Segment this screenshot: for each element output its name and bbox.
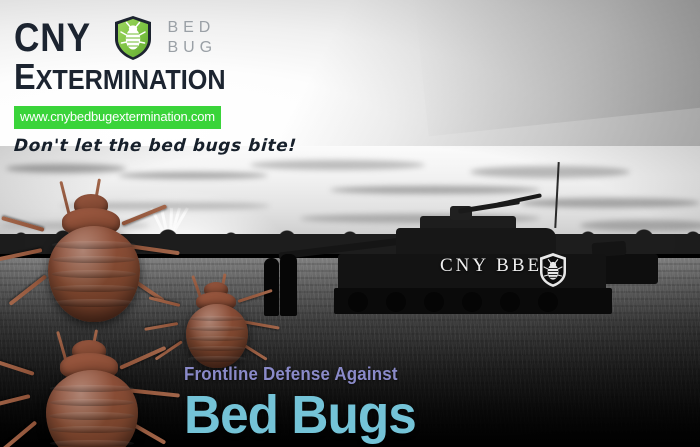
abdomen-segment bbox=[50, 440, 135, 447]
bed-bug-icon bbox=[26, 342, 166, 447]
website-url-text: www.cnybedbugextermination.com bbox=[20, 109, 215, 124]
headline-title: Bed Bugs bbox=[184, 387, 416, 443]
abdomen-segment bbox=[50, 412, 135, 419]
brand-tagline: Don't let the bed bugs bite! bbox=[13, 136, 297, 156]
tank-road-wheel bbox=[500, 292, 520, 312]
bed-bug-abdomen bbox=[48, 226, 140, 322]
bed-bug-abdomen bbox=[46, 370, 138, 447]
abdomen-segment bbox=[50, 399, 135, 406]
tank-road-wheel bbox=[386, 292, 406, 312]
cloud bbox=[118, 172, 268, 179]
logo-subtext-bug: BUG bbox=[167, 38, 217, 58]
tank-road-wheel bbox=[424, 292, 444, 312]
abdomen-segment bbox=[188, 346, 245, 351]
cloud bbox=[250, 160, 425, 170]
shield-bedbug-icon bbox=[113, 15, 153, 61]
bed-bug-icon bbox=[176, 282, 272, 370]
abdomen-segment bbox=[50, 426, 135, 433]
logo-subtext: BED BUG bbox=[167, 18, 217, 58]
abdomen-segment bbox=[52, 285, 137, 293]
abdomen-segment bbox=[52, 256, 137, 264]
abdomen-segment bbox=[52, 241, 137, 249]
bed-bug-leg bbox=[121, 204, 167, 226]
abdomen-segment bbox=[52, 299, 137, 307]
abdomen-segment bbox=[52, 270, 137, 278]
extermination-rest: XTERMINATION bbox=[36, 64, 226, 95]
background-vehicle bbox=[600, 254, 658, 284]
shield-bedbug-emblem-icon bbox=[538, 252, 568, 288]
abdomen-segment bbox=[188, 336, 245, 341]
bed-bug-icon bbox=[34, 196, 166, 326]
company-logo[interactable]: CNY bbox=[14, 12, 297, 156]
logo-subtext-bed: BED bbox=[167, 18, 217, 38]
tank-machine-gun-secondary bbox=[496, 193, 542, 206]
bed-bug-extermination-banner: CNY bbox=[0, 0, 700, 447]
headline-block: Frontline Defense Against Bed Bugs bbox=[184, 364, 428, 443]
abdomen-segment bbox=[188, 316, 245, 321]
brand-name-cny: CNY bbox=[14, 18, 91, 58]
abdomen-segment bbox=[50, 385, 135, 392]
extermination-first-letter: E bbox=[14, 56, 36, 97]
header-light-streak bbox=[413, 0, 700, 136]
tank-unit-marking: CNY BBE bbox=[440, 255, 542, 277]
tank-road-wheel bbox=[538, 292, 558, 312]
tank-road-wheel bbox=[462, 292, 482, 312]
website-url-bar[interactable]: www.cnybedbugextermination.com bbox=[14, 106, 221, 129]
cloud bbox=[470, 166, 630, 178]
logo-top-row: CNY bbox=[14, 12, 297, 64]
headline-kicker: Frontline Defense Against bbox=[184, 364, 413, 385]
abdomen-segment bbox=[188, 326, 245, 331]
brand-name-extermination: EXTERMINATION bbox=[14, 60, 268, 102]
abdomen-segment bbox=[188, 356, 245, 361]
bed-bug-leg bbox=[238, 289, 273, 303]
bed-bug-abdomen bbox=[186, 304, 248, 368]
bed-bug-leg bbox=[119, 346, 166, 370]
tank-road-wheel bbox=[348, 292, 368, 312]
cloud bbox=[6, 164, 126, 173]
soldier-silhouette bbox=[280, 254, 297, 316]
